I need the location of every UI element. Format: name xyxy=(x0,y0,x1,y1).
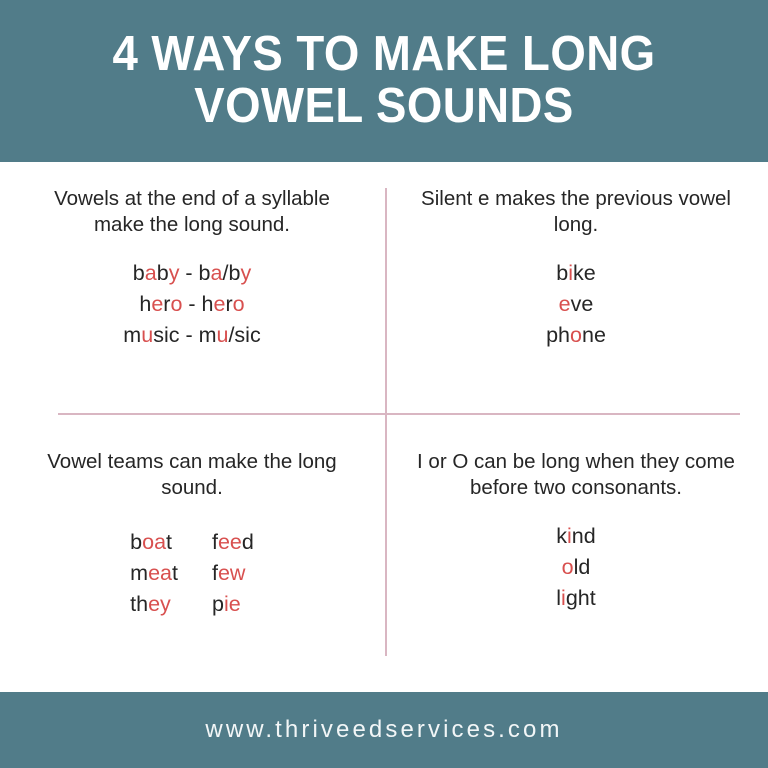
highlighted-vowel: y xyxy=(169,261,180,285)
highlighted-vowel: o xyxy=(170,292,182,316)
quadrant-silent-e: Silent e makes the previous vowel long. … xyxy=(384,162,768,427)
word-segment: b xyxy=(157,261,169,285)
quadrant-grid: Vowels at the end of a syllable make the… xyxy=(0,162,768,692)
word-segment: b xyxy=(130,530,142,554)
word-segment: th xyxy=(130,592,148,616)
example-column: feedfewpie xyxy=(212,527,254,619)
word-segment: ve xyxy=(571,292,594,316)
word-segment: /sic xyxy=(228,323,260,347)
word-segment: ne xyxy=(582,323,606,347)
word-segment: nd xyxy=(572,524,596,548)
example-word: feed xyxy=(212,527,254,558)
word-segment: ght xyxy=(566,586,596,610)
example-column: baby - ba/byhero - heromusic - mu/sic xyxy=(123,258,260,350)
highlighted-vowel: u xyxy=(216,323,228,347)
example-word: music - mu/sic xyxy=(123,320,260,351)
example-column: kindoldlight xyxy=(556,521,595,613)
word-segment: ld xyxy=(574,555,591,579)
word-segment: - b xyxy=(179,261,210,285)
infographic-poster: 4 WAYS TO MAKE LONG VOWEL SOUNDS Vowels … xyxy=(0,0,768,768)
word-segment: p xyxy=(212,592,224,616)
word-segment: k xyxy=(556,524,567,548)
word-segment: m xyxy=(123,323,141,347)
word-segment: sic - m xyxy=(153,323,216,347)
quadrant-body: Vowels at the end of a syllable make the… xyxy=(0,162,768,692)
quadrant-examples: bikeevephone xyxy=(546,258,606,350)
page-title: 4 WAYS TO MAKE LONG VOWEL SOUNDS xyxy=(96,29,673,133)
highlighted-vowel: ie xyxy=(224,592,241,616)
word-segment: d xyxy=(242,530,254,554)
word-segment: /b xyxy=(223,261,241,285)
quadrant-examples: kindoldlight xyxy=(556,521,595,613)
website-url[interactable]: www.thriveedservices.com xyxy=(205,716,562,744)
example-word: baby - ba/by xyxy=(123,258,260,289)
example-word: bike xyxy=(546,258,606,289)
highlighted-vowel: oa xyxy=(142,530,166,554)
example-word: eve xyxy=(546,289,606,320)
header-band: 4 WAYS TO MAKE LONG VOWEL SOUNDS xyxy=(0,0,768,162)
vertical-divider xyxy=(385,188,387,656)
quadrant-examples: baby - ba/byhero - heromusic - mu/sic xyxy=(123,258,260,350)
highlighted-vowel: o xyxy=(233,292,245,316)
example-word: light xyxy=(556,583,595,614)
word-segment: t xyxy=(166,530,172,554)
word-segment: h xyxy=(139,292,151,316)
highlighted-vowel: a xyxy=(145,261,157,285)
quadrant-heading: Silent e makes the previous vowel long. xyxy=(416,186,736,238)
word-segment: - h xyxy=(182,292,213,316)
highlighted-vowel: o xyxy=(562,555,574,579)
example-word: few xyxy=(212,558,254,589)
highlighted-vowel: a xyxy=(211,261,223,285)
highlighted-vowel: e xyxy=(214,292,226,316)
word-segment: ke xyxy=(573,261,596,285)
example-word: pie xyxy=(212,589,254,620)
word-segment: ph xyxy=(546,323,570,347)
example-word: old xyxy=(556,552,595,583)
highlighted-vowel: ee xyxy=(218,530,242,554)
example-word: hero - hero xyxy=(123,289,260,320)
word-segment: m xyxy=(130,561,148,585)
word-segment: t xyxy=(172,561,178,585)
quadrant-vowel-teams: Vowel teams can make the long sound. boa… xyxy=(0,427,384,692)
word-segment: b xyxy=(556,261,568,285)
highlighted-vowel: o xyxy=(570,323,582,347)
example-word: meat xyxy=(130,558,178,589)
horizontal-divider xyxy=(58,413,740,415)
word-segment: r xyxy=(225,292,232,316)
highlighted-vowel: ew xyxy=(218,561,245,585)
example-word: kind xyxy=(556,521,595,552)
quadrant-i-or-o-two-consonants: I or O can be long when they come before… xyxy=(384,427,768,692)
footer-band: www.thriveedservices.com xyxy=(0,692,768,768)
highlighted-vowel: e xyxy=(559,292,571,316)
example-word: they xyxy=(130,589,178,620)
example-word: phone xyxy=(546,320,606,351)
highlighted-vowel: e xyxy=(151,292,163,316)
example-word: boat xyxy=(130,527,178,558)
quadrant-heading: Vowel teams can make the long sound. xyxy=(32,449,352,501)
quadrant-examples: boatmeattheyfeedfewpie xyxy=(130,527,254,619)
quadrant-heading: Vowels at the end of a syllable make the… xyxy=(32,186,352,238)
example-column: boatmeatthey xyxy=(130,527,178,619)
highlighted-vowel: ey xyxy=(148,592,171,616)
highlighted-vowel: u xyxy=(141,323,153,347)
example-column: bikeevephone xyxy=(546,258,606,350)
quadrant-vowels-end-of-syllable: Vowels at the end of a syllable make the… xyxy=(0,162,384,427)
highlighted-vowel: y xyxy=(240,261,251,285)
quadrant-heading: I or O can be long when they come before… xyxy=(416,449,736,501)
highlighted-vowel: ea xyxy=(148,561,172,585)
word-segment: b xyxy=(133,261,145,285)
